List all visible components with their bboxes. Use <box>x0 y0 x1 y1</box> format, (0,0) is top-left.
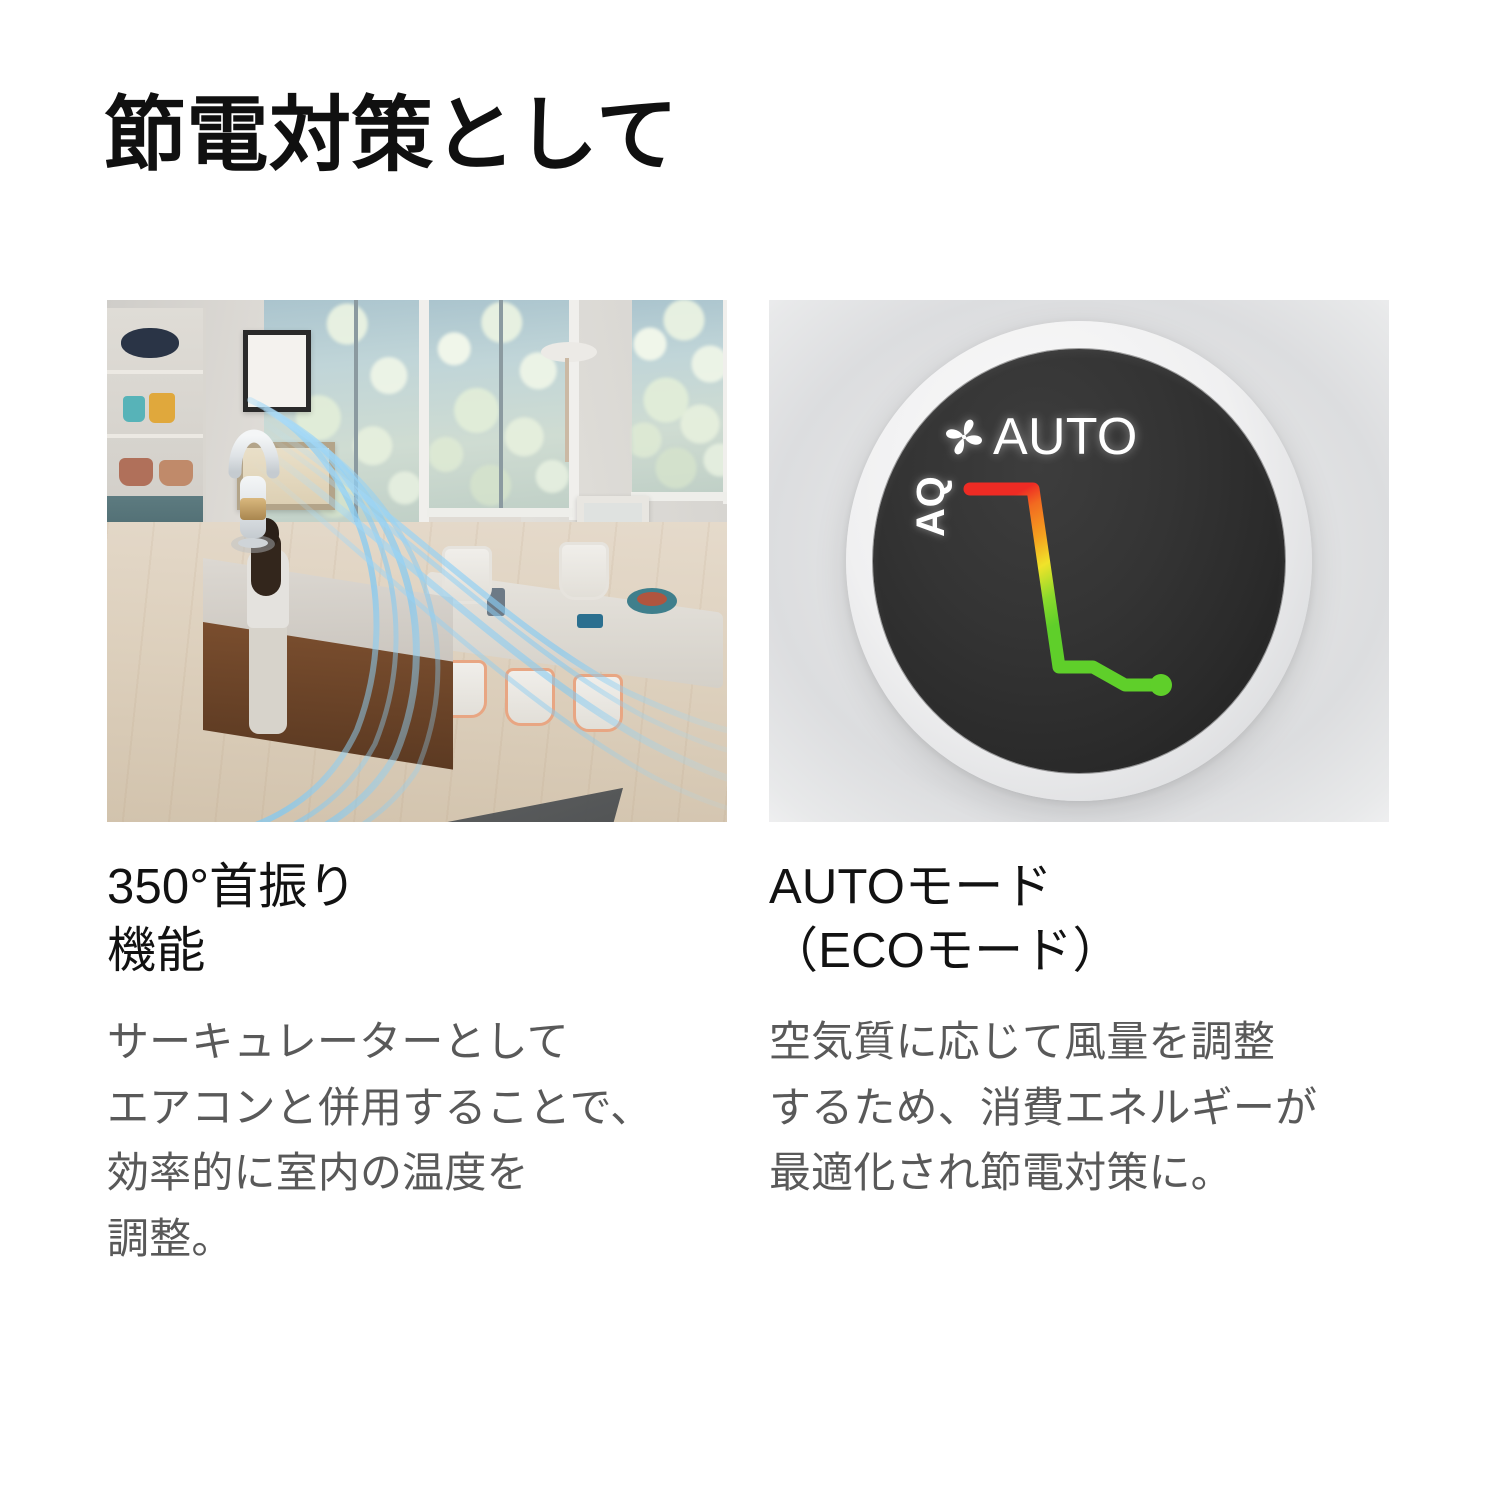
window-frame-3 <box>723 300 727 504</box>
body-line: 効率的に室内の温度を <box>107 1140 727 1206</box>
room-scene <box>107 300 727 822</box>
lcd-screen: AUTO AQ <box>873 349 1285 773</box>
caption-body-auto-mode: 空気質に応じて風量を調整 するため、消費エネルギーが 最適化され節電対策に。 <box>769 1009 1389 1206</box>
window-frame-2 <box>569 300 579 520</box>
caption-heading-auto-mode: AUTOモード （ECOモード） <box>769 856 1389 983</box>
caption-heading-oscillation: 350°首振り 機能 <box>107 856 727 983</box>
framed-picture-1 <box>243 330 311 412</box>
dining-chair-3 <box>573 674 623 732</box>
body-line: 空気質に応じて風量を調整 <box>769 1009 1389 1075</box>
dining-table-food <box>637 592 667 606</box>
heading-line: AUTOモード <box>769 856 1389 920</box>
shelf-object-mug-teal <box>123 396 145 422</box>
aq-trend-line <box>970 489 1161 685</box>
caption-auto-mode: AUTOモード （ECOモード） 空気質に応じて風量を調整 するため、消費エネル… <box>769 856 1389 1206</box>
body-line: するため、消費エネルギーが <box>769 1075 1389 1141</box>
shelf-object-basket-1 <box>119 458 153 486</box>
feature-column-oscillation: 350°首振り 機能 サーキュレーターとして エアコンと併用することで、 効率的… <box>107 300 727 1271</box>
body-line: エアコンと併用することで、 <box>107 1075 727 1141</box>
aq-end-marker <box>1150 674 1172 696</box>
promo-panel: 節電対策として <box>0 0 1500 1500</box>
window-pane-3 <box>632 300 727 496</box>
floor-lamp-pole <box>565 358 569 462</box>
caption-body-oscillation: サーキュレーターとして エアコンと併用することで、 効率的に室内の温度を 調整。 <box>107 1009 727 1271</box>
shelf-object-bowl <box>121 328 179 358</box>
window-mullion-2 <box>499 300 503 510</box>
window-mullion-1 <box>354 300 358 522</box>
body-line: サーキュレーターとして <box>107 1009 727 1075</box>
person-standing-head <box>253 518 279 548</box>
shelf-object-basket-2 <box>159 460 193 486</box>
shelf-object-mug-yellow <box>149 393 175 423</box>
window-sill-2 <box>427 508 573 517</box>
heading-line: 350°首振り <box>107 856 727 920</box>
heading-line: 機能 <box>107 920 727 984</box>
living-room-airflow-photo <box>107 300 727 822</box>
page-title: 節電対策として <box>104 93 678 180</box>
floor-lamp-shade <box>541 342 597 362</box>
auto-mode-lcd-photo: AUTO AQ <box>769 300 1389 822</box>
dining-chair-4 <box>442 546 492 604</box>
dining-chair-5 <box>559 542 609 600</box>
heading-line: （ECOモード） <box>769 920 1389 984</box>
feature-columns: 350°首振り 機能 サーキュレーターとして エアコンと併用することで、 効率的… <box>107 300 1389 1271</box>
foliage-3 <box>632 300 727 496</box>
product-display-backdrop: AUTO AQ <box>769 300 1389 822</box>
air-quality-chart <box>873 349 1285 773</box>
person-standing-legs <box>249 622 287 734</box>
framed-picture-2 <box>237 442 335 510</box>
dining-table-book <box>577 614 603 628</box>
body-line: 最適化され節電対策に。 <box>769 1140 1389 1206</box>
caption-oscillation: 350°首振り 機能 サーキュレーターとして エアコンと併用することで、 効率的… <box>107 856 727 1271</box>
dining-chair-2 <box>505 668 555 726</box>
feature-column-auto-mode: AUTO AQ <box>769 300 1389 1271</box>
body-line: 調整。 <box>107 1206 727 1272</box>
window-frame-1 <box>419 300 429 534</box>
